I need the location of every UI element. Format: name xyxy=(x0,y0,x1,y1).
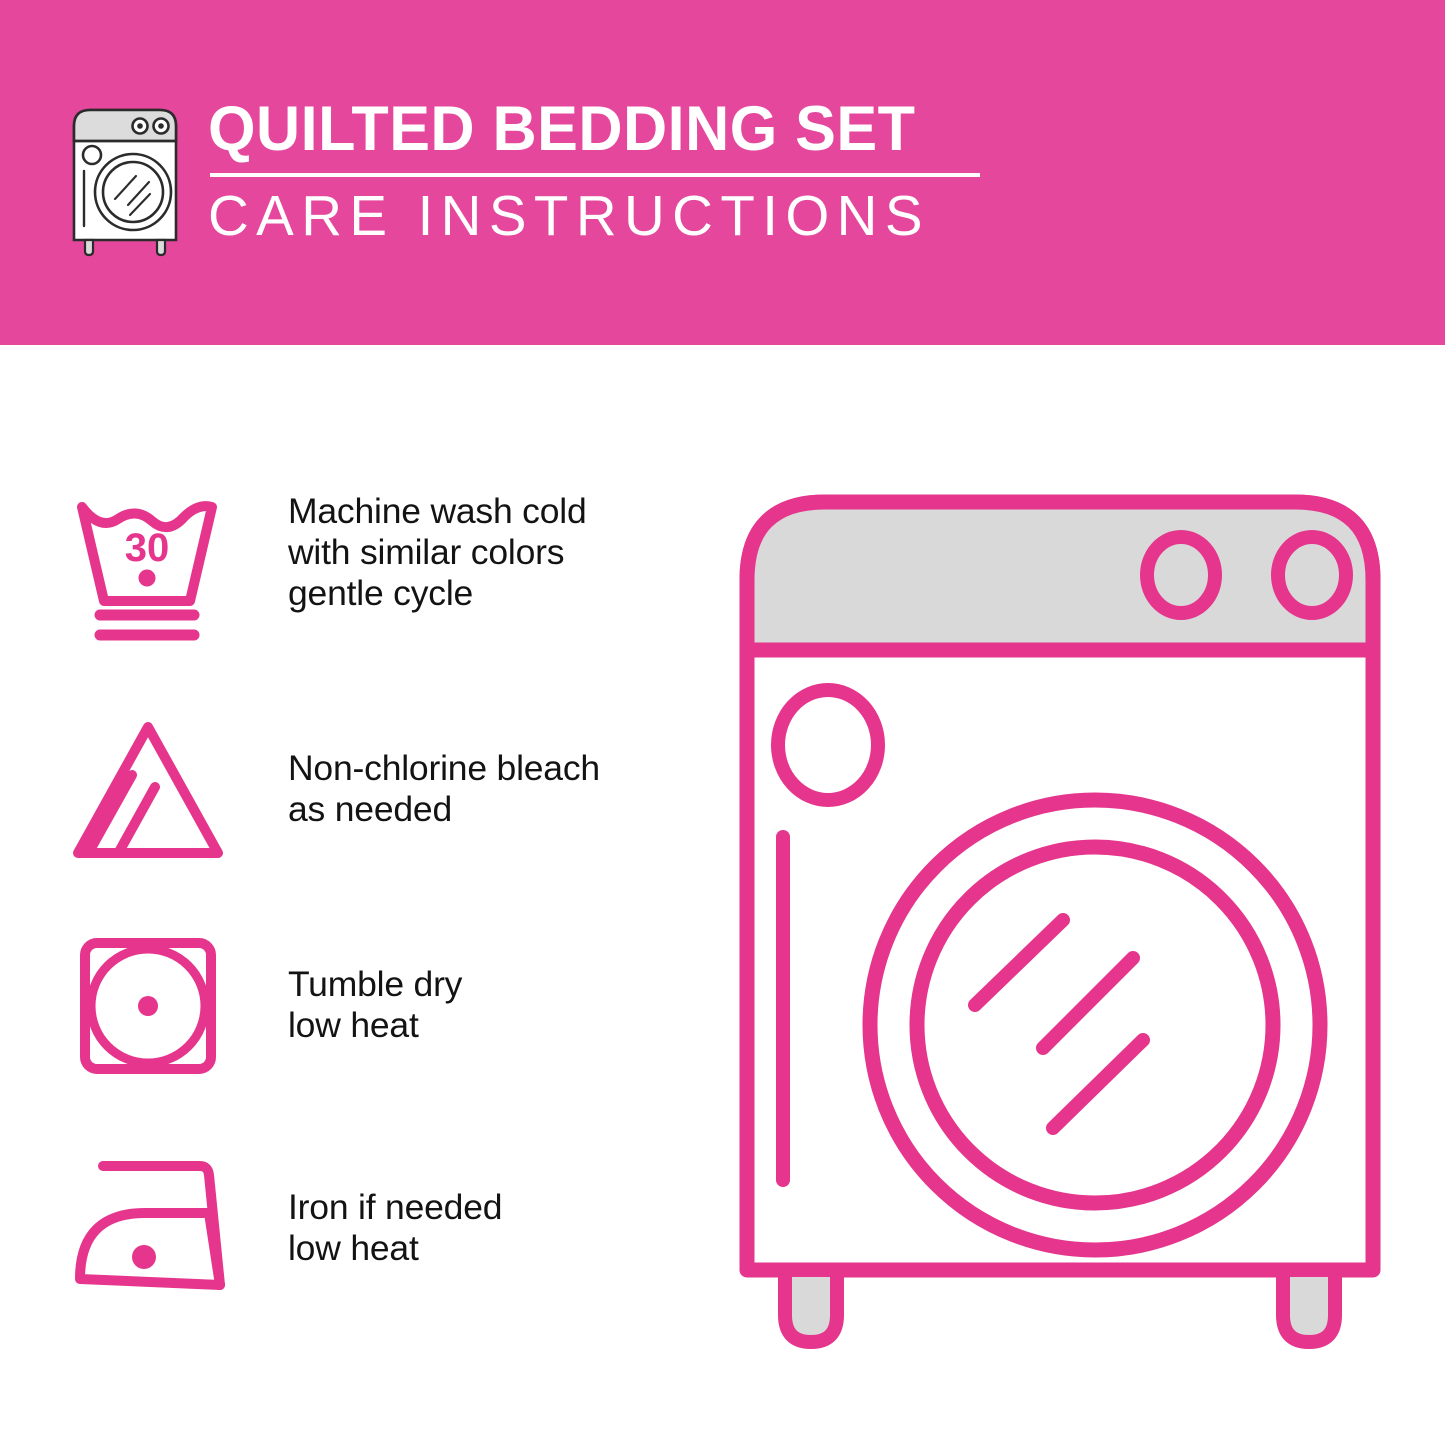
tumble-dry-low-icon xyxy=(70,929,250,1089)
care-text-tumble-dry: Tumble dry low heat xyxy=(288,964,688,1046)
header-banner: QUILTED BEDDING SET CARE INSTRUCTIONS xyxy=(0,0,1445,345)
care-text-bleach: Non-chlorine bleach as needed xyxy=(288,748,688,830)
non-chlorine-bleach-triangle-icon xyxy=(70,713,250,873)
leg-left xyxy=(785,1270,837,1342)
body-area: 30 Machine wash cold with similar colors… xyxy=(0,345,1445,1445)
wash-temperature-value: 30 xyxy=(125,526,170,570)
care-row-bleach: Non-chlorine bleach as needed xyxy=(70,703,690,921)
detergent-dispenser-button xyxy=(778,690,878,800)
door-inner-ring xyxy=(917,847,1273,1203)
care-row-iron: Iron if needed low heat xyxy=(70,1139,690,1357)
wash-tub-30-icon: 30 xyxy=(70,489,250,649)
front-load-washing-machine-illustration xyxy=(725,480,1395,1360)
care-text-iron: Iron if needed low heat xyxy=(288,1187,688,1269)
care-text-machine-wash: Machine wash cold with similar colors ge… xyxy=(288,491,688,614)
care-instructions-infographic: QUILTED BEDDING SET CARE INSTRUCTIONS 30 xyxy=(0,0,1445,1445)
care-row-machine-wash: 30 Machine wash cold with similar colors… xyxy=(70,485,690,703)
leg-right xyxy=(1283,1270,1335,1342)
care-row-tumble-dry: Tumble dry low heat xyxy=(70,921,690,1139)
title-divider xyxy=(210,173,980,177)
page-subtitle: CARE INSTRUCTIONS xyxy=(208,187,990,245)
header-title-block: QUILTED BEDDING SET CARE INSTRUCTIONS xyxy=(208,98,998,245)
iron-low-heat-icon xyxy=(70,1153,250,1313)
header-content: QUILTED BEDDING SET CARE INSTRUCTIONS xyxy=(60,98,998,258)
page-title: QUILTED BEDDING SET xyxy=(208,98,974,160)
knob-left xyxy=(1147,537,1215,613)
washing-machine-icon xyxy=(60,98,190,258)
care-instruction-list: 30 Machine wash cold with similar colors… xyxy=(70,485,690,1357)
knob-right xyxy=(1278,537,1346,613)
